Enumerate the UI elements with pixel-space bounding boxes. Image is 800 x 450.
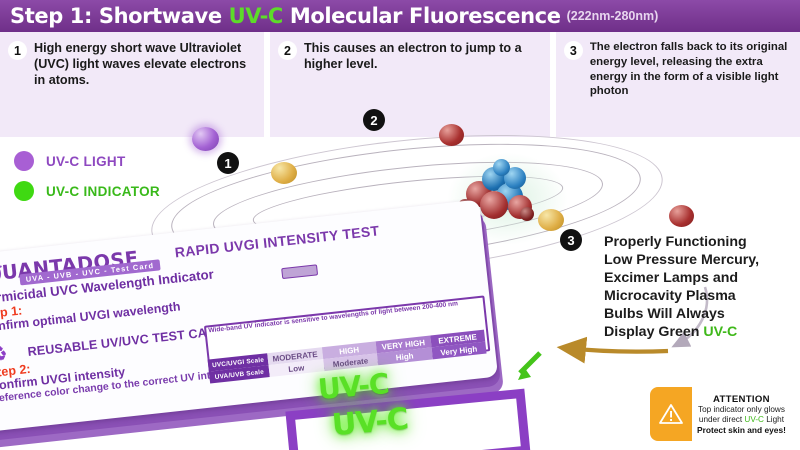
header-wavelength-range: (222nm-280nm) [567, 9, 659, 23]
step-panel-2: 2 This causes an electron to jump to a h… [270, 32, 550, 137]
diagram-marker-2: 2 [363, 109, 385, 131]
infographic-root: Step 1: Shortwave UV-C Molecular Fluores… [0, 0, 800, 450]
electron-red-orbit [669, 205, 694, 227]
legend-item-uvc-indicator: UV-C INDICATOR [14, 181, 160, 201]
right-line-6: Display Green UV-C [604, 323, 800, 341]
uvc-glow-text-bottom: UV-C [331, 402, 410, 443]
card-rapid-test-title: RAPID UVGI INTENSITY TEST [174, 222, 380, 260]
wavelength-indicator-swatch [281, 264, 318, 279]
page-title: Step 1: Shortwave UV-C Molecular Fluores… [10, 4, 561, 28]
legend-item-uvc-light: UV-C LIGHT [14, 151, 160, 171]
attention-heading: ATTENTION [697, 394, 786, 405]
legend: UV-C LIGHT UV-C INDICATOR [14, 151, 160, 211]
diagram-marker-3: 3 [560, 229, 582, 251]
header-title-highlight: UV-C [229, 4, 283, 28]
header-bar: Step 1: Shortwave UV-C Molecular Fluores… [0, 0, 800, 32]
legend-dot-purple-icon [14, 151, 34, 171]
step-panel-1: 1 High energy short wave Ultraviolet (UV… [0, 32, 264, 137]
right-line-2: Low Pressure Mercury, [604, 251, 800, 269]
right-line-5: Bulbs Will Always [604, 305, 800, 323]
step-number-badge-3: 3 [564, 41, 583, 60]
recycle-icon: ♻ [0, 343, 9, 366]
warning-triangle-glyph [658, 402, 684, 426]
right-line-1: Properly Functioning [604, 233, 800, 251]
step-text-2: This causes an electron to jump to a hig… [304, 40, 542, 137]
step-number-badge-1: 1 [8, 41, 27, 60]
nucleus-neutron [493, 159, 510, 176]
diagram-marker-1: 1 [217, 152, 239, 174]
electron-gold-return [538, 209, 564, 231]
right-line-6-a: Display Green [604, 324, 703, 340]
attention-line-2-c: Light [764, 415, 784, 424]
step-text-3: The electron falls back to its original … [590, 40, 792, 137]
step3-arrow [565, 348, 668, 352]
attention-line-1: Top indicator only glows [697, 405, 786, 415]
warning-triangle-icon [650, 387, 692, 441]
legend-label-uvc-light: UV-C LIGHT [46, 154, 126, 169]
uvc-glow-text-top: UV-C [317, 367, 390, 406]
card-reusable-heading: REUSABLE UV/UVC TEST CARD [27, 324, 226, 359]
legend-dot-green-icon [14, 181, 34, 201]
attention-line-2-a: under direct [699, 415, 745, 424]
legend-label-uvc-indicator: UV-C INDICATOR [46, 184, 160, 199]
atom-diagram-area: 1 2 3 UV-C LIGHT UV-C INDICATOR Properly… [0, 137, 800, 450]
right-line-3: Excimer Lamps and [604, 269, 800, 287]
step-text-1: High energy short wave Ultraviolet (UVC)… [34, 40, 256, 137]
uvc-photon [192, 127, 219, 151]
step-number-badge-2: 2 [278, 41, 297, 60]
electron-gold-ground [271, 162, 297, 184]
attention-line-2-uvc: UV-C [744, 415, 764, 424]
right-line-5-a: Bulbs Will [604, 306, 676, 322]
attention-box: ATTENTION Top indicator only glows under… [650, 387, 796, 441]
electron-red-excited [439, 124, 464, 146]
right-line-6-uvc: UV-C [703, 324, 737, 340]
card-step1-text: Confirm optimal UVGI wavelength [0, 299, 181, 334]
attention-line-2: under direct UV-C Light [697, 415, 786, 425]
header-title-part-a: Step 1: Shortwave [10, 4, 229, 28]
right-line-4: Microcavity Plasma [604, 287, 800, 305]
attention-text: ATTENTION Top indicator only glows under… [692, 394, 790, 435]
right-line-5-emphasis: Always [676, 306, 725, 322]
nucleus-proton [480, 191, 508, 219]
step-panels: 1 High energy short wave Ultraviolet (UV… [0, 32, 800, 137]
header-title-part-b: Molecular Fluorescence [283, 4, 561, 28]
step-panel-3: 3 The electron falls back to its origina… [556, 32, 800, 137]
attention-line-3: Protect skin and eyes! [697, 425, 786, 435]
right-description: Properly Functioning Low Pressure Mercur… [604, 233, 800, 341]
